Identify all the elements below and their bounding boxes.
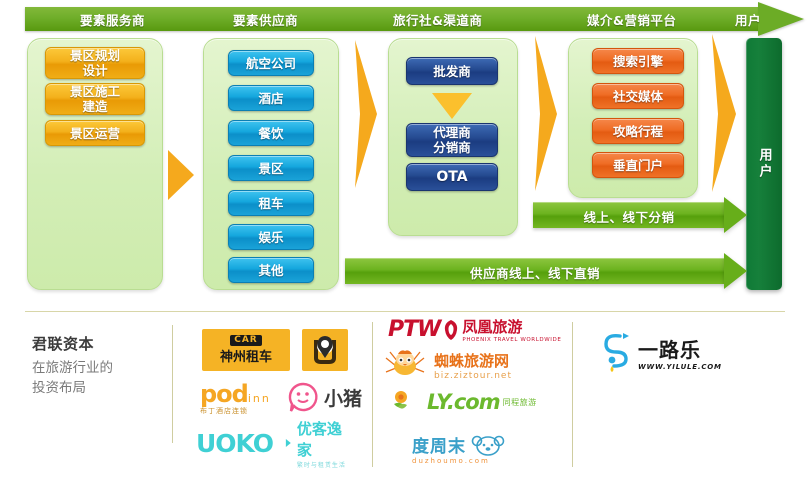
pill-label: 景区 <box>258 161 283 176</box>
pill-social-media[interactable]: 社交媒体 <box>592 83 684 109</box>
pill-scenic-construction[interactable]: 景区施工 建造 <box>45 83 145 115</box>
pill-label: 娱乐 <box>258 230 283 245</box>
pill-hotel[interactable]: 酒店 <box>228 85 314 111</box>
infographic-root: 要素服务商 要素供应商 旅行社&渠道商 媒介&营销平台 用户 景区规划 设计 景… <box>0 0 810 487</box>
pill-label: 搜索引擎 <box>613 54 663 69</box>
logo-yilule: 一路乐 WWW.YILULE.COM <box>598 330 722 374</box>
logo-zhizhu-lvyou: 蜘蛛旅游网 biz.ziztour.net <box>382 348 512 382</box>
logo-shenzhou-zuche: CAR 神州租车 <box>202 329 290 371</box>
logo-uoko-sub: 繁时与租赁生活 <box>297 460 356 469</box>
logo-xiaozhu: 小猪 <box>288 382 362 412</box>
brand-subtitle-line1: 在旅游行业的 <box>32 358 162 378</box>
phoenix-icon <box>442 319 460 341</box>
section-divider <box>25 311 785 312</box>
uoko-mark-icon <box>277 435 293 451</box>
logo-duzhoumo-sub: duzhoumo.com <box>412 457 505 465</box>
logo-ptw-phoenix: PTW 凤凰旅游 PHOENIX TRAVEL WORLDWIDE <box>388 316 561 343</box>
logo-podinn-suffix: inn <box>248 392 271 405</box>
stage-header-band: 要素服务商 要素供应商 旅行社&渠道商 媒介&营销平台 用户 <box>25 7 785 31</box>
spider-icon <box>382 348 428 382</box>
pill-label: 其他 <box>258 263 283 278</box>
logo-uoko-main: UOKO <box>196 431 273 456</box>
pill-ota[interactable]: OTA <box>406 163 498 191</box>
logo-ly-badge: 同程旅游 <box>503 397 537 408</box>
koala-icon <box>471 434 505 456</box>
pill-entertainment[interactable]: 娱乐 <box>228 224 314 250</box>
logo-pin-badge <box>302 329 348 371</box>
pill-label: 垂直门户 <box>613 158 663 173</box>
logo-zhizhu-sub: biz.ziztour.net <box>434 371 512 381</box>
logo-ptw-main: PTW <box>388 319 440 341</box>
chevron-right-icon-3 <box>533 36 557 191</box>
logo-divider-1 <box>172 325 173 443</box>
logo-podinn-main: pod <box>200 382 248 406</box>
pill-label: 批发商 <box>433 64 471 79</box>
header-arrow-tip-icon <box>758 2 804 36</box>
logo-ly-main: LY.com <box>427 392 500 413</box>
logo-zhizhu-cn: 蜘蛛旅游网 <box>434 350 512 371</box>
pill-label: 景区施工 建造 <box>70 84 120 114</box>
header-label-suppliers: 要素供应商 <box>233 10 298 29</box>
pill-label: 景区规划 设计 <box>70 48 120 78</box>
xiaozhu-face-icon <box>288 382 318 412</box>
pill-label: 景区运营 <box>70 126 120 141</box>
brand-name: 君联资本 <box>32 333 162 354</box>
chevron-right-icon-1 <box>168 150 194 200</box>
pill-airline[interactable]: 航空公司 <box>228 50 314 76</box>
logo-car-tag: CAR <box>230 335 262 346</box>
pill-wholesaler[interactable]: 批发商 <box>406 57 498 85</box>
logo-divider-2 <box>372 322 373 467</box>
brand-block: 君联资本 在旅游行业的 投资布局 <box>32 333 162 398</box>
pill-scenic-area[interactable]: 景区 <box>228 155 314 181</box>
logo-xiaozhu-label: 小猪 <box>324 384 362 411</box>
header-label-media: 媒介&营销平台 <box>587 10 676 29</box>
pill-catering[interactable]: 餐饮 <box>228 120 314 146</box>
pill-label: 代理商 分销商 <box>433 125 471 155</box>
brand-subtitle-line2: 投资布局 <box>32 378 162 398</box>
flow-arrow-online-offline-distribution: 线上、线下分销 <box>533 202 747 228</box>
pill-others[interactable]: 其他 <box>228 257 314 283</box>
pill-label: 餐饮 <box>258 126 283 141</box>
logo-ptw-cn: 凤凰旅游 <box>462 316 561 337</box>
flow-arrow-label: 线上、线下分销 <box>533 207 725 226</box>
chevron-right-icon-4 <box>710 34 736 192</box>
pill-label: 攻略行程 <box>613 124 663 139</box>
pill-label: 社交媒体 <box>613 89 663 104</box>
pill-label: OTA <box>436 170 467 185</box>
flow-arrow-label: 供应商线上、线下直销 <box>345 263 725 282</box>
flow-arrow-tip-icon <box>724 197 747 233</box>
logo-ly-com: LY.com 同程旅游 <box>390 388 537 416</box>
pill-vertical-portal[interactable]: 垂直门户 <box>592 152 684 178</box>
pill-label: 租车 <box>258 196 283 211</box>
ly-flower-icon <box>390 388 424 416</box>
pill-label: 酒店 <box>258 91 283 106</box>
flow-arrow-supplier-direct-sales: 供应商线上、线下直销 <box>345 258 747 284</box>
logo-yilule-cn: 一路乐 <box>638 334 722 363</box>
winding-path-icon <box>598 330 632 374</box>
pill-agent-distributor[interactable]: 代理商 分销商 <box>406 123 498 157</box>
logo-duzhoumo: 度周末 duzhoumo.com <box>412 432 505 465</box>
pill-car-rental[interactable]: 租车 <box>228 190 314 216</box>
pill-label: 航空公司 <box>246 56 296 71</box>
header-label-users: 用户 <box>735 10 761 29</box>
logo-podinn-sub: 布丁酒店连锁 <box>200 406 296 416</box>
pill-scenic-operation[interactable]: 景区运营 <box>45 120 145 146</box>
logo-duzhoumo-cn: 度周末 <box>412 432 466 457</box>
logo-uoko: UOKO 优客逸家 繁时与租赁生活 <box>196 428 356 458</box>
logo-shenzhou-zuche-label: 神州租车 <box>220 346 272 365</box>
header-label-channels: 旅行社&渠道商 <box>393 10 482 29</box>
pill-travel-guide[interactable]: 攻略行程 <box>592 118 684 144</box>
logo-ptw-sub: PHOENIX TRAVEL WORLDWIDE <box>462 337 561 343</box>
logo-uoko-cn: 优客逸家 <box>297 418 356 460</box>
pill-scenic-planning-design[interactable]: 景区规划 设计 <box>45 47 145 79</box>
logo-divider-3 <box>572 322 573 467</box>
header-label-service-providers: 要素服务商 <box>80 10 145 29</box>
map-pin-icon <box>310 334 340 366</box>
pill-search-engine[interactable]: 搜索引擎 <box>592 48 684 74</box>
chevron-right-icon-2 <box>353 40 377 188</box>
logo-yilule-sub: WWW.YILULE.COM <box>638 363 722 371</box>
logo-podinn: pod inn 布丁酒店连锁 <box>200 382 296 416</box>
users-column-label: 用户 <box>755 148 774 180</box>
arrow-down-icon <box>432 93 472 123</box>
flow-arrow-tip-icon <box>724 253 747 289</box>
users-column-bar: 用户 <box>746 38 782 290</box>
